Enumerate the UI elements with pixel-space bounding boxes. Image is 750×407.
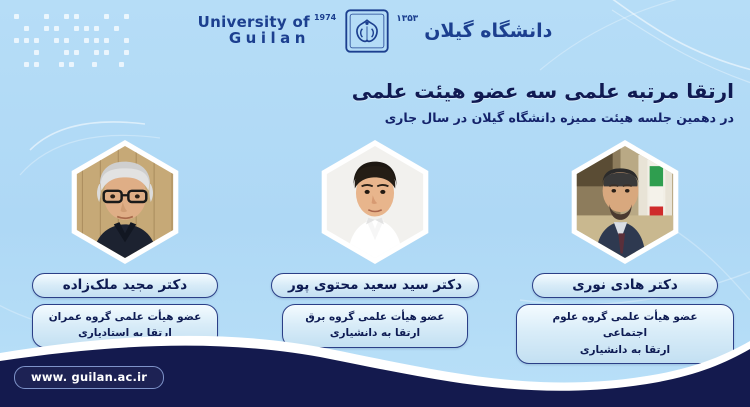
person-name: دکتر مجید ملک‌زاده (32, 273, 218, 298)
footer-wave: www. guilan.ac.ir (0, 327, 750, 407)
poster-canvas: University of Guilan 1974 ۱۳۵۳ دانشگاه گ… (0, 0, 750, 407)
guilan-university-emblem-icon (344, 8, 390, 54)
logo-en-line2: Guilan (229, 31, 310, 47)
logo-year-solar: ۱۳۵۳ (396, 14, 418, 24)
person-name: دکتر هادی نوری (532, 273, 718, 298)
logo-persian-name: دانشگاه گیلان (424, 20, 552, 42)
website-url[interactable]: www. guilan.ac.ir (14, 366, 164, 389)
page-title: ارتقا مرتبه علمی سه عضو هیئت علمی (180, 78, 734, 105)
logo-english-name: University of Guilan (198, 15, 310, 47)
avatar (313, 140, 437, 264)
university-logo: University of Guilan 1974 ۱۳۵۳ دانشگاه گ… (0, 8, 750, 54)
avatar (63, 140, 187, 264)
person-role-line1: عضو هیأت علمی گروه برق (305, 311, 444, 323)
person-card: دکتر سید سعید محتوی پور عضو هیأت علمی گر… (266, 140, 484, 348)
person-name: دکتر سید سعید محتوی پور (271, 273, 479, 298)
logo-year-gregorian: 1974 (314, 13, 336, 22)
page-subtitle: در دهمین جلسه هیئت ممیزه دانشگاه گیلان د… (180, 109, 734, 127)
avatar (563, 140, 687, 264)
headline-block: ارتقا مرتبه علمی سه عضو هیئت علمی در دهم… (180, 78, 734, 127)
person-role-line1: عضو هیأت علمی گروه عمران (49, 311, 202, 323)
person-card: دکتر مجید ملک‌زاده عضو هیأت علمی گروه عم… (16, 140, 234, 348)
